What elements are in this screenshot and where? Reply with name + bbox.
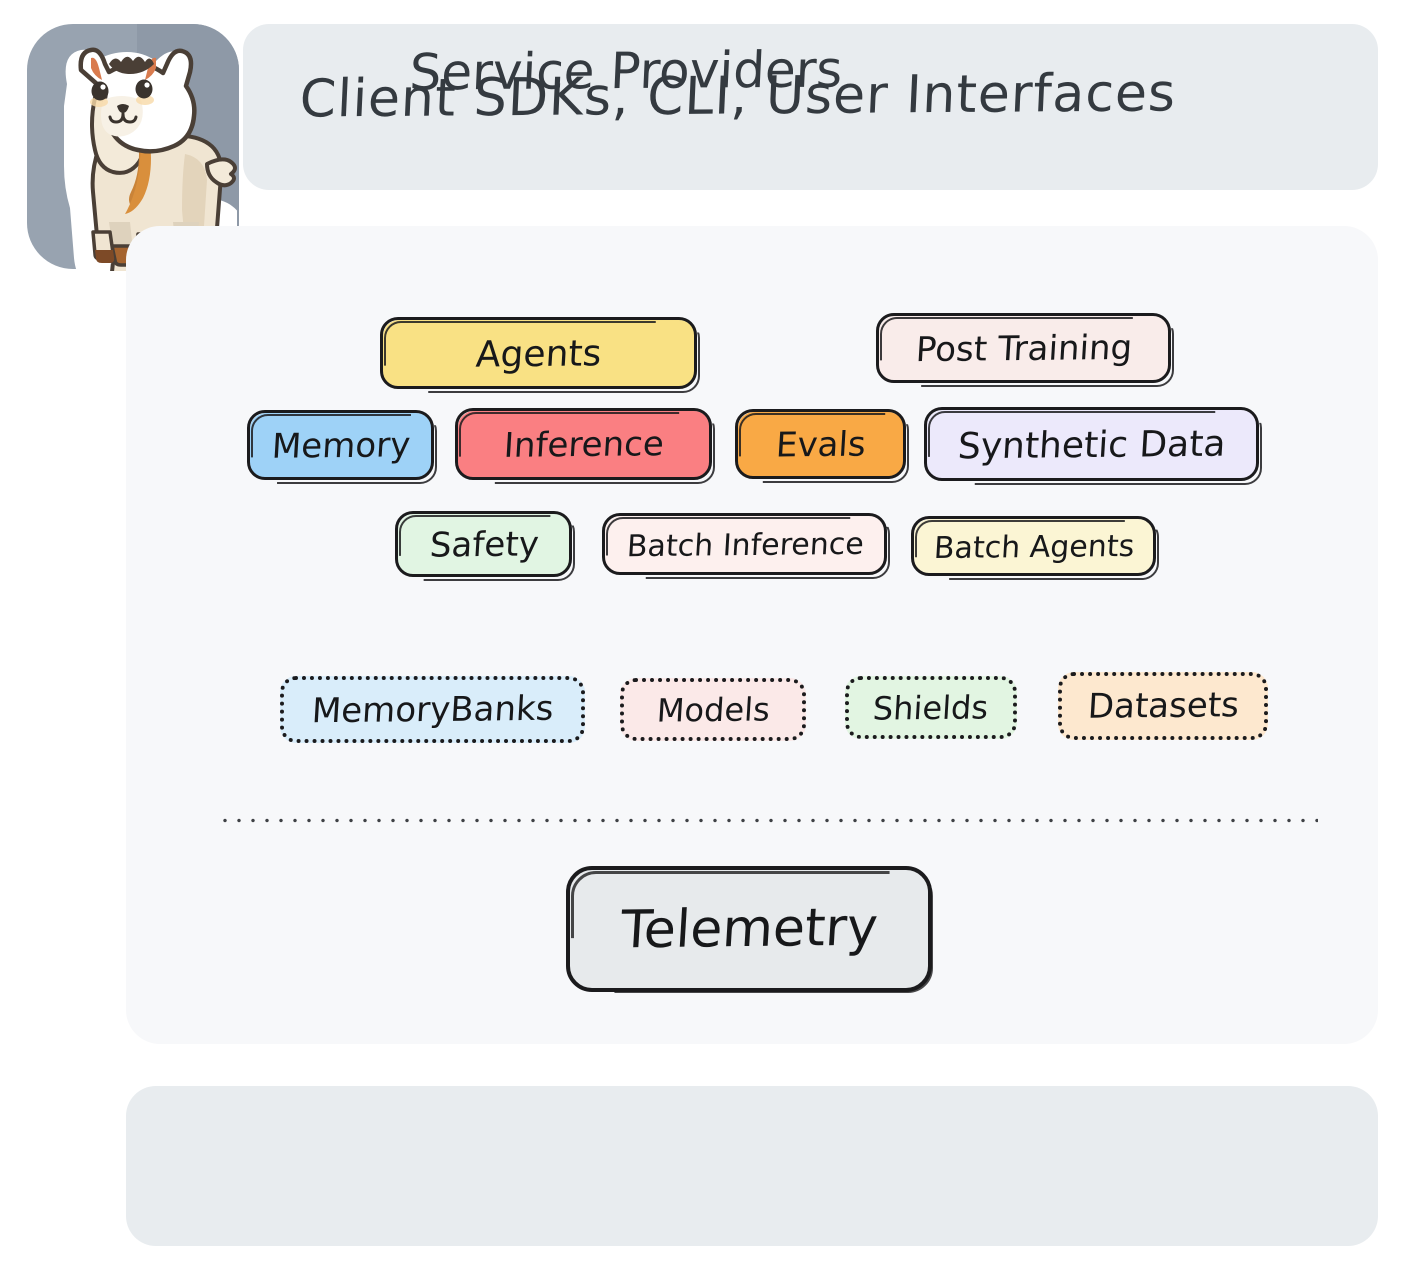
api-box-batch-inference[interactable]: Batch Inference (605, 516, 885, 574)
resource-box-shields[interactable]: Shields (845, 676, 1017, 739)
api-box-synthetic-data[interactable]: Synthetic Data (927, 410, 1257, 480)
resource-box-models[interactable]: Models (620, 678, 806, 741)
resource-box-datasets[interactable]: Datasets (1058, 672, 1268, 740)
footer-band (126, 1086, 1378, 1246)
box-label: Inference (503, 424, 665, 466)
box-label: MemoryBanks (311, 688, 555, 731)
api-box-safety[interactable]: Safety (398, 514, 570, 576)
box-label: Models (655, 690, 770, 729)
box-label: Batch Inference (626, 526, 865, 563)
box-label: Agents (475, 333, 603, 375)
section-divider (218, 818, 1318, 823)
box-label: Safety (428, 524, 539, 565)
api-box-inference[interactable]: Inference (458, 411, 710, 479)
api-box-memory[interactable]: Memory (250, 413, 432, 479)
box-label: Synthetic Data (957, 423, 1227, 467)
telemetry-label: Telemetry (619, 898, 879, 961)
box-label: Memory (271, 425, 412, 466)
box-label: Batch Agents (933, 528, 1135, 565)
footer-title: Service Providers (0, 38, 1254, 105)
box-label: Datasets (1086, 685, 1239, 727)
resource-box-memorybanks[interactable]: MemoryBanks (280, 676, 585, 743)
api-box-post-training[interactable]: Post Training (879, 316, 1169, 382)
api-box-evals[interactable]: Evals (738, 412, 904, 478)
api-box-agents[interactable]: Agents (383, 320, 695, 388)
box-label: Post Training (915, 328, 1134, 370)
api-box-batch-agents[interactable]: Batch Agents (914, 519, 1154, 575)
box-label: Evals (775, 425, 867, 466)
box-label: Shields (872, 688, 989, 727)
telemetry-box[interactable]: Telemetry (569, 869, 929, 989)
